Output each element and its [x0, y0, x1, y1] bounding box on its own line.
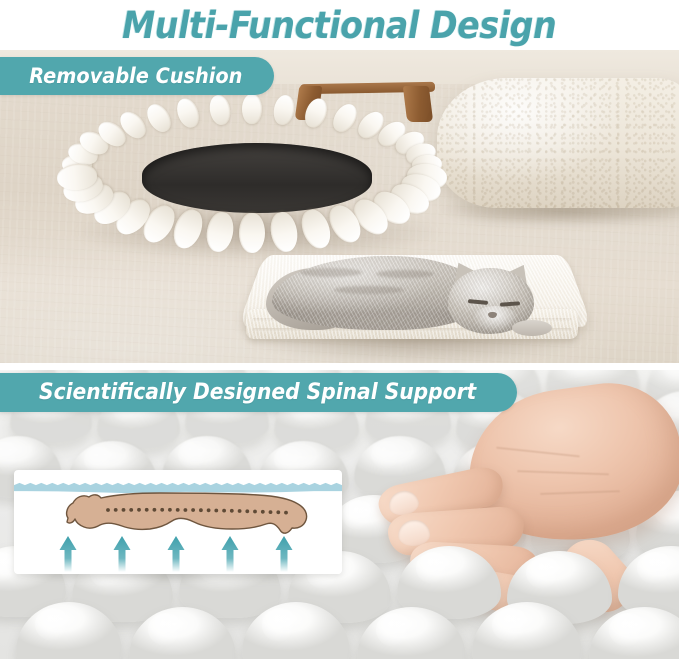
panel-divider [0, 363, 679, 370]
support-arrows-group [14, 530, 342, 574]
spine-dot [106, 508, 110, 512]
boucle-sofa [437, 78, 679, 208]
spine-dot [153, 508, 157, 512]
spine-dot [184, 508, 188, 512]
cat-stripe [300, 268, 362, 277]
spine-dot [160, 508, 164, 512]
bolster-rib [242, 94, 262, 124]
spine-dot [199, 508, 203, 512]
support-arrow [114, 536, 131, 572]
knuckle-line [517, 470, 609, 475]
spine-dot [245, 509, 249, 513]
spinal-support-diagram [14, 470, 342, 574]
spine-dot [230, 509, 234, 513]
bolster-rib [207, 93, 232, 126]
bolster-rib [239, 213, 265, 253]
knuckle-line [540, 490, 620, 495]
bolster-rib [143, 100, 176, 136]
boucle-texture [437, 78, 679, 208]
support-arrow [276, 536, 293, 572]
badge-removable-cushion-label: Removable Cushion [29, 64, 242, 88]
spine-dot [253, 510, 257, 514]
spine-dot [137, 508, 141, 512]
panel-removable-cushion [0, 50, 679, 363]
bolster-rib [301, 96, 330, 131]
badge-removable-cushion: Removable Cushion [0, 57, 274, 95]
sleeping-cat [272, 242, 540, 338]
human-hand [382, 398, 679, 648]
bolster-ring [52, 95, 452, 245]
support-arrow [60, 536, 77, 572]
badge-spinal-support-label: Scientifically Designed Spinal Support [39, 380, 476, 405]
fingernail-ring [418, 548, 449, 575]
spine-dot [238, 509, 242, 513]
header-bar: Multi-Functional Design [0, 0, 679, 50]
spine-dot [176, 508, 180, 512]
cat-paw [512, 320, 552, 336]
spine-dot [145, 508, 149, 512]
spine-dot [114, 508, 118, 512]
spine-dot [222, 509, 226, 513]
spine-dot [269, 510, 273, 514]
spine-dot [122, 508, 126, 512]
spine-dot [261, 510, 265, 514]
page-title: Multi-Functional Design [122, 4, 556, 47]
cat-stripe [376, 270, 434, 278]
spine-dot [276, 510, 280, 514]
ribbed-bolster-bed [52, 95, 452, 255]
scene-bed-and-cat [0, 50, 679, 363]
bolster-rib [174, 96, 203, 131]
knuckle-line [496, 447, 580, 458]
bolster-rib [272, 93, 297, 126]
spine-dot [207, 508, 211, 512]
badge-spinal-support: Scientifically Designed Spinal Support [0, 373, 517, 412]
spine-dot [168, 508, 172, 512]
cat-stripe [334, 286, 404, 294]
support-arrow [168, 536, 185, 572]
pet-silhouette-icon [62, 488, 312, 536]
support-arrow [222, 536, 239, 572]
spine-dot [284, 511, 288, 515]
spine-dot [191, 508, 195, 512]
spine-dot [129, 508, 133, 512]
bolster-rib [328, 100, 361, 136]
spine-dot [214, 509, 218, 513]
fingernail-pinky [459, 573, 488, 599]
product-marketing-image: Multi-Functional Design [0, 0, 679, 659]
